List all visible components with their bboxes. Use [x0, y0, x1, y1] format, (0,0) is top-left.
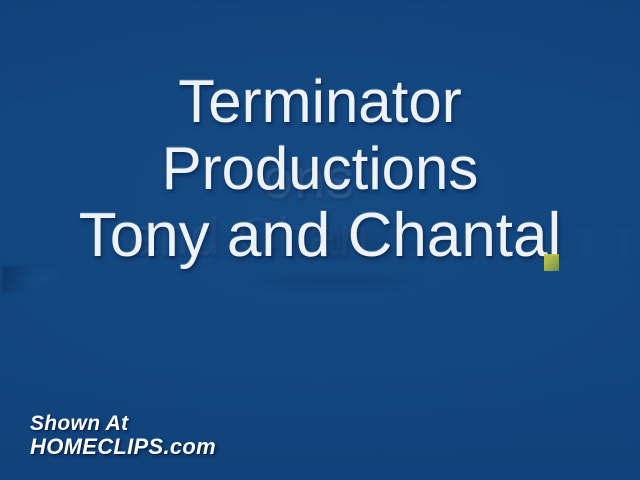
ghost-smear-low [236, 272, 436, 290]
ghost-smear-left [2, 266, 60, 292]
video-frame[interactable]: ons and Chan Terminator Productions Tony… [0, 0, 640, 480]
compression-block-artifact [544, 254, 559, 271]
title-line-1: Terminator [0, 68, 640, 135]
watermark-line-site: HOMECLIPS.com [30, 435, 216, 458]
title-line-2: Productions [0, 135, 640, 202]
watermark-line-shown-at: Shown At [30, 412, 216, 435]
source-watermark: Shown At HOMECLIPS.com [30, 412, 216, 458]
title-card: Terminator Productions Tony and Chantal [0, 68, 640, 269]
